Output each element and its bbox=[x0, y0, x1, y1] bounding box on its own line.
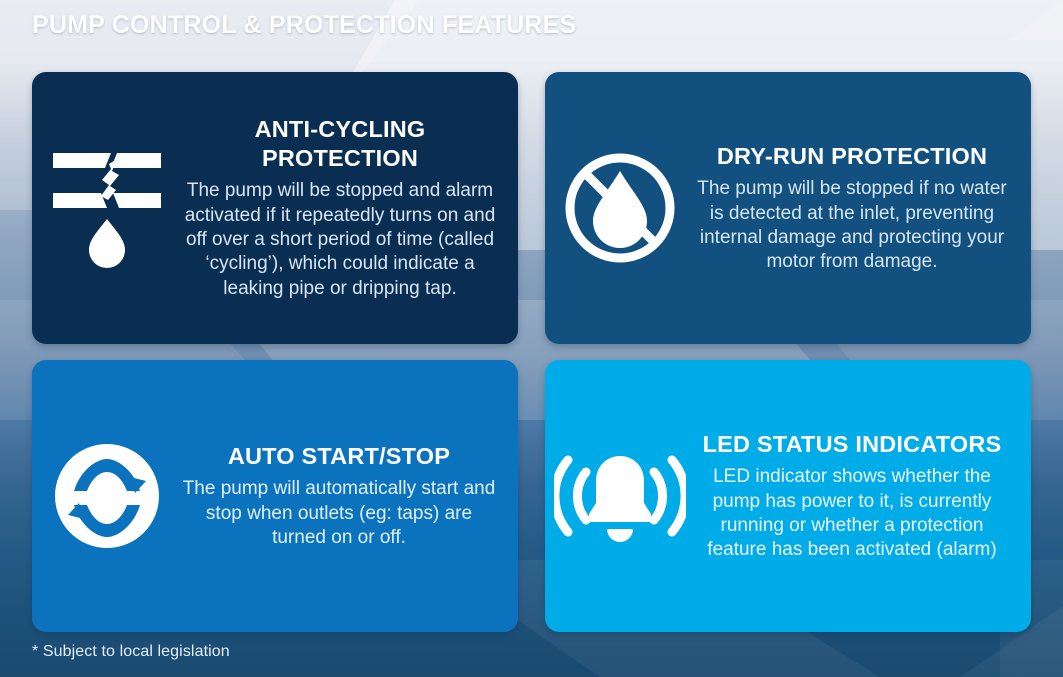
feature-card-body: LED STATUS INDICATORS LED indicator show… bbox=[695, 430, 1031, 563]
cycle-arrows-circle-icon bbox=[32, 437, 182, 555]
feature-card-text: LED indicator shows whether the pump has… bbox=[695, 465, 1009, 562]
ringing-bell-icon bbox=[545, 442, 695, 550]
no-water-droplet-icon bbox=[545, 149, 695, 267]
page-title: PUMP CONTROL & PROTECTION FEATURES bbox=[32, 11, 576, 40]
feature-card-text: The pump will automatically start and st… bbox=[182, 477, 496, 550]
feature-card-auto-start-stop: AUTO START/STOP The pump will automatica… bbox=[32, 360, 518, 632]
feature-card-body: AUTO START/STOP The pump will automatica… bbox=[182, 442, 518, 551]
feature-card-title: AUTO START/STOP bbox=[182, 442, 496, 471]
feature-card-title: ANTI-CYCLING PROTECTION bbox=[184, 115, 496, 172]
feature-card-text: The pump will be stopped if no water is … bbox=[695, 177, 1009, 274]
feature-card-body: ANTI-CYCLING PROTECTION The pump will be… bbox=[182, 115, 518, 301]
light-wedge-top-right bbox=[1010, 0, 1063, 40]
feature-card-grid: ANTI-CYCLING PROTECTION The pump will be… bbox=[32, 72, 1031, 632]
feature-card-title: LED STATUS INDICATORS bbox=[695, 430, 1009, 459]
feature-card-body: DRY-RUN PROTECTION The pump will be stop… bbox=[695, 142, 1031, 275]
feature-card-anti-cycling: ANTI-CYCLING PROTECTION The pump will be… bbox=[32, 72, 518, 344]
cracked-pipe-drip-icon bbox=[32, 147, 182, 269]
feature-card-led-status: LED STATUS INDICATORS LED indicator show… bbox=[545, 360, 1031, 632]
footnote: * Subject to local legislation bbox=[32, 643, 230, 661]
feature-card-title: DRY-RUN PROTECTION bbox=[695, 142, 1009, 171]
feature-card-dry-run: DRY-RUN PROTECTION The pump will be stop… bbox=[545, 72, 1031, 344]
pump-features-infographic: PUMP CONTROL & PROTECTION FEATURES ANT bbox=[0, 0, 1063, 677]
feature-card-text: The pump will be stopped and alarm activ… bbox=[184, 179, 496, 301]
